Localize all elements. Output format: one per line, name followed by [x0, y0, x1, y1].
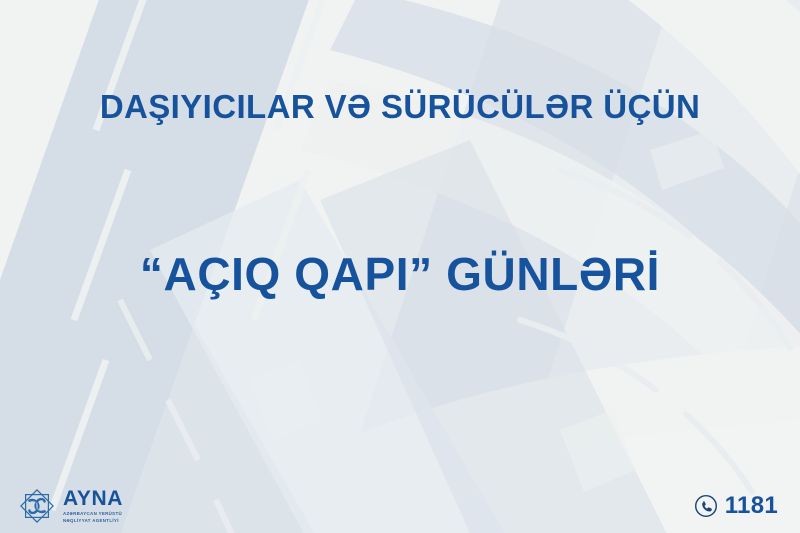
headline-primary: DAŞIYICILAR VƏ SÜRÜCÜLƏR ÜÇÜN — [0, 88, 800, 126]
ayna-logo-lockup: AYNA AZƏRBAYCAN YERÜSTÜ NƏQLİYYAT AGENTL… — [18, 487, 129, 525]
headline-secondary: “AÇIQ QAPI” GÜNLƏRİ — [0, 247, 800, 301]
phone-in-circle-icon — [693, 493, 719, 519]
ayna-wordmark: AYNA — [63, 488, 129, 509]
ayna-subtitle: AZƏRBAYCAN YERÜSTÜ NƏQLİYYAT AGENTLİYİ — [63, 511, 129, 524]
hotline-number: 1181 — [725, 494, 778, 518]
hotline-block[interactable]: 1181 — [693, 493, 778, 519]
ayna-star-rosette-icon — [18, 487, 56, 525]
promo-banner: DAŞIYICILAR VƏ SÜRÜCÜLƏR ÜÇÜN “AÇIQ QAPI… — [0, 0, 800, 533]
ayna-wordmark-group: AYNA AZƏRBAYCAN YERÜSTÜ NƏQLİYYAT AGENTL… — [63, 488, 129, 524]
